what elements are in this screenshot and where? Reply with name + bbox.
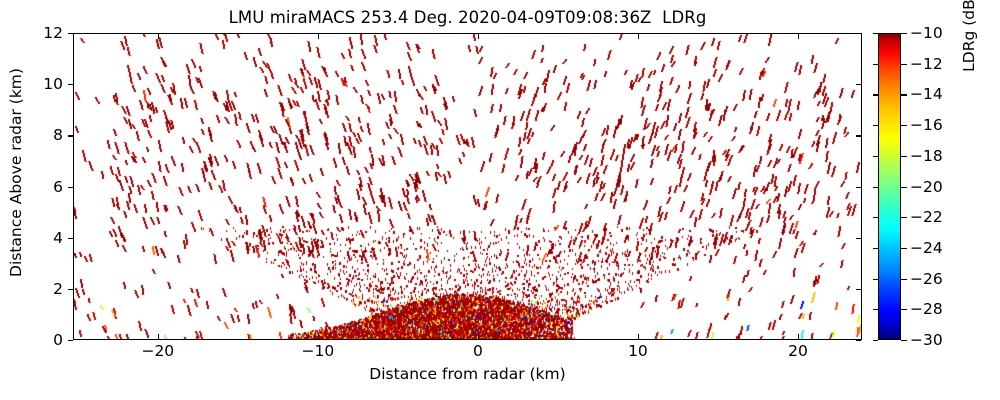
x-axis-tick (158, 334, 159, 339)
colorbar-tick (873, 187, 878, 188)
x-axis-tick (318, 334, 319, 339)
colorbar-tick (901, 33, 907, 34)
y-axis-tick-right (856, 340, 861, 341)
colorbar-label: LDRg (dB) (960, 0, 978, 186)
colorbar-tick-label: −30 (910, 331, 943, 349)
x-axis-tick-top (798, 34, 799, 39)
x-axis-tick-top (638, 34, 639, 39)
colorbar-tick (901, 156, 907, 157)
y-axis-tick-right (856, 33, 861, 34)
y-axis-tick-label: 6 (53, 178, 63, 196)
colorbar-tick (873, 156, 878, 157)
colorbar-tick (901, 340, 907, 341)
y-axis-tick (68, 187, 73, 188)
plot-area (73, 33, 862, 340)
colorbar-tick (873, 33, 878, 34)
y-axis-tick-label: 10 (43, 75, 63, 93)
y-axis-tick (68, 33, 73, 34)
colorbar-tick (873, 340, 878, 341)
colorbar-tick-label: −28 (910, 300, 943, 318)
colorbar-tick (901, 309, 907, 310)
colorbar-tick (901, 248, 907, 249)
colorbar-tick-label: −14 (910, 85, 943, 103)
y-axis-label: Distance Above radar (km) (7, 19, 27, 326)
x-axis-tick-label: 10 (628, 342, 648, 360)
colorbar-tick (901, 217, 907, 218)
colorbar-tick (873, 217, 878, 218)
y-axis-tick (68, 84, 73, 85)
colorbar-tick-label: −10 (910, 24, 943, 42)
y-axis-tick (68, 340, 73, 341)
y-axis-tick-label: 0 (53, 331, 63, 349)
y-axis-tick (68, 238, 73, 239)
colorbar-tick (873, 309, 878, 310)
x-axis-tick-label: 20 (788, 342, 808, 360)
colorbar-tick-label: −16 (910, 116, 943, 134)
y-axis-tick (68, 135, 73, 136)
x-axis-tick (798, 334, 799, 339)
colorbar-tick-label: −22 (910, 208, 943, 226)
y-axis-tick-label: 8 (53, 126, 63, 144)
colorbar-tick (873, 279, 878, 280)
y-axis-tick-right (856, 289, 861, 290)
colorbar-tick-label: −26 (910, 270, 943, 288)
colorbar-tick (873, 64, 878, 65)
figure-canvas: LMU miraMACS 253.4 Deg. 2020-04-09T09:08… (0, 0, 1000, 400)
colorbar-tick-label: −20 (910, 178, 943, 196)
x-axis-tick (478, 334, 479, 339)
colorbar-tick-label: −12 (910, 55, 943, 73)
colorbar-tick-label: −24 (910, 239, 943, 257)
colorbar-tick (901, 125, 907, 126)
x-axis-tick-top (478, 34, 479, 39)
scatter-plot-canvas (74, 34, 862, 340)
x-axis-tick (638, 334, 639, 339)
colorbar-tick (901, 94, 907, 95)
colorbar-tick (873, 248, 878, 249)
y-axis-tick-right (856, 238, 861, 239)
x-axis-tick-label: −20 (141, 342, 174, 360)
y-axis-tick-right (856, 84, 861, 85)
colorbar-tick (873, 125, 878, 126)
x-axis-tick-top (318, 34, 319, 39)
colorbar-tick (901, 279, 907, 280)
colorbar-tick (873, 94, 878, 95)
x-axis-tick-label: 0 (473, 342, 483, 360)
y-axis-tick-right (856, 135, 861, 136)
y-axis-tick-label: 12 (43, 24, 63, 42)
x-axis-tick-top (158, 34, 159, 39)
colorbar-tick (901, 187, 907, 188)
y-axis-tick-right (856, 187, 861, 188)
x-axis-tick-label: −10 (302, 342, 335, 360)
colorbar-tick-label: −18 (910, 147, 943, 165)
colorbar-gradient (878, 33, 901, 340)
y-axis-tick-label: 4 (53, 229, 63, 247)
y-axis-tick (68, 289, 73, 290)
chart-title: LMU miraMACS 253.4 Deg. 2020-04-09T09:08… (0, 8, 935, 27)
y-axis-tick-label: 2 (53, 280, 63, 298)
x-axis-label: Distance from radar (km) (73, 365, 862, 383)
colorbar-tick (901, 64, 907, 65)
